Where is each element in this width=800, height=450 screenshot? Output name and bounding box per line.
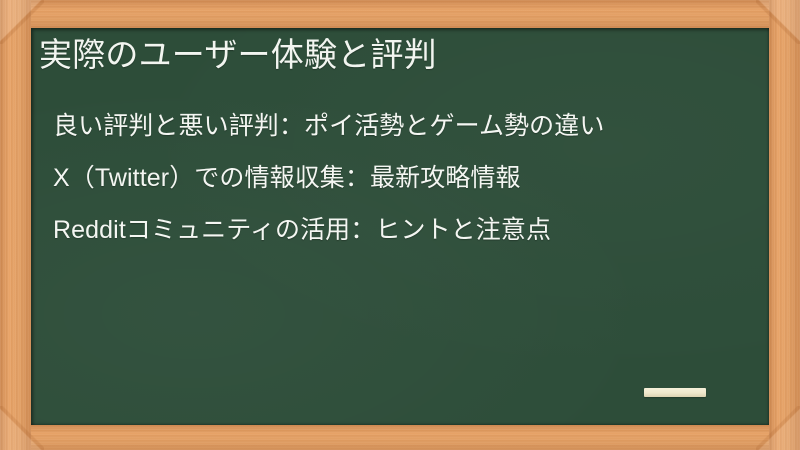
frame-rail-left [0, 0, 31, 450]
board-bullet-line-1: 良い評判と悪い評判：ポイ活勢とゲーム勢の違い [53, 100, 763, 152]
frame-rail-right [769, 0, 800, 450]
frame-rail-bottom [0, 424, 800, 450]
board-title: 実際のユーザー体験と評判 [39, 34, 759, 76]
frame-rail-top [0, 0, 800, 28]
chalkboard-surface: 実際のユーザー体験と評判 良い評判と悪い評判：ポイ活勢とゲーム勢の違い X（Tw… [31, 28, 769, 425]
board-bullet-line-2: X（Twitter）での情報収集：最新攻略情報 [53, 152, 763, 204]
board-bullet-list: 良い評判と悪い評判：ポイ活勢とゲーム勢の違い X（Twitter）での情報収集：… [53, 100, 763, 256]
chalk-stick [644, 388, 706, 397]
board-bullet-line-3: Redditコミュニティの活用：ヒントと注意点 [53, 204, 763, 256]
chalkboard-frame: 実際のユーザー体験と評判 良い評判と悪い評判：ポイ活勢とゲーム勢の違い X（Tw… [0, 0, 800, 450]
